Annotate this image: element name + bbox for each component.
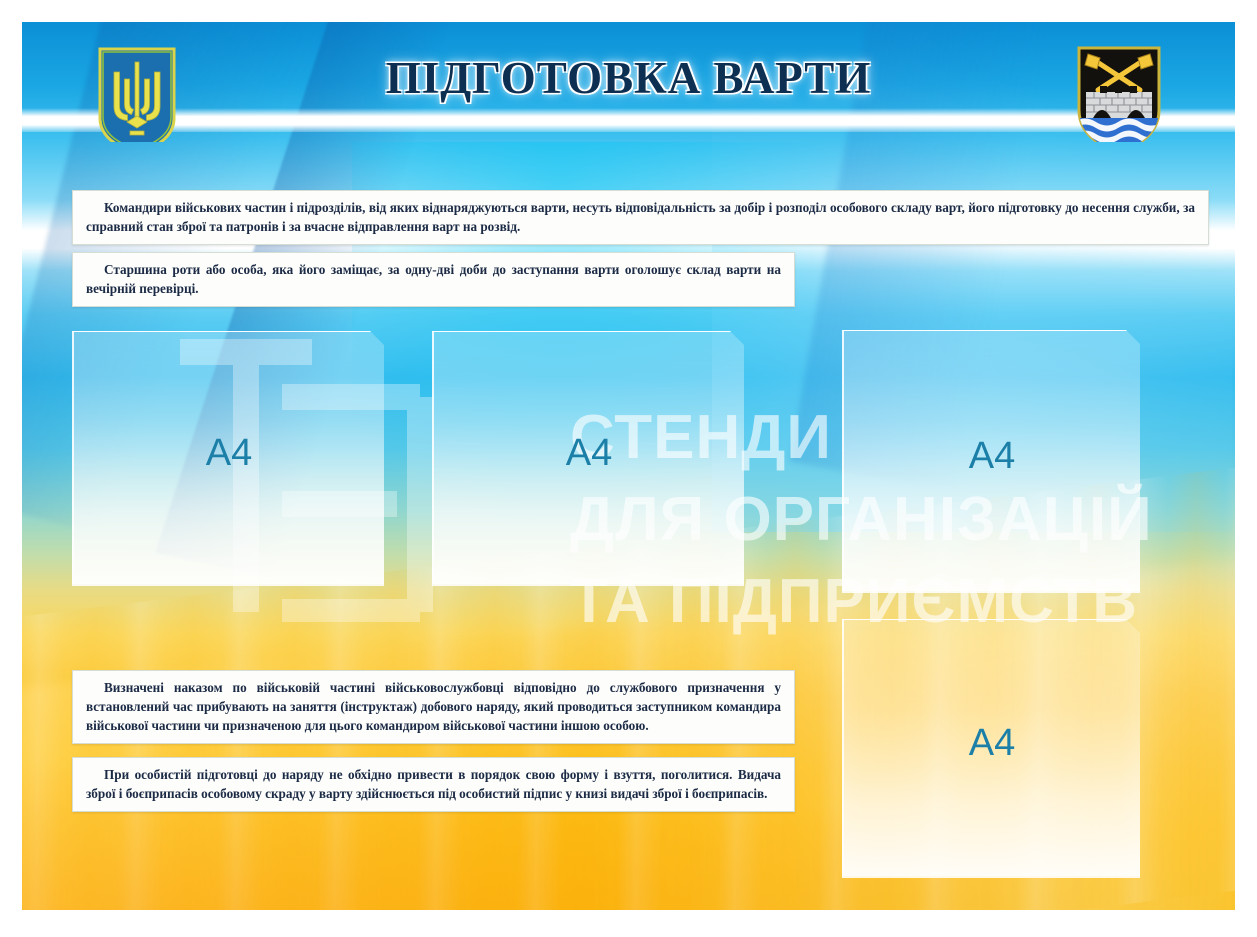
a4-pocket-1[interactable]: A4 xyxy=(72,331,384,586)
panel-paragraph: При особистій підготовці до наряду не об… xyxy=(86,765,781,803)
a4-pocket-label: A4 xyxy=(844,722,1140,765)
text-panel-commanders-responsibility: Командири військових частин і підрозділі… xyxy=(72,190,1209,245)
a4-pocket-label: A4 xyxy=(74,432,384,475)
a4-pocket-2[interactable]: A4 xyxy=(432,331,744,586)
header-banner: ПІДГОТОВКА ВАРТИ xyxy=(22,22,1235,142)
text-panel-sergeant-announcement: Старшина роти або особа, яка його заміща… xyxy=(72,252,795,307)
panel-paragraph: Старшина роти або особа, яка його заміща… xyxy=(86,260,781,298)
information-stand-board: СТЕНДИ ДЛЯ ОРГАНІЗАЦІЙ ТА ПІДПРИЄМСТВ xyxy=(22,22,1235,910)
panel-paragraph: Визначені наказом по військовій частині … xyxy=(86,678,781,735)
text-panel-briefing-order: Визначені наказом по військовій частині … xyxy=(72,670,795,744)
a4-pocket-3[interactable]: A4 xyxy=(842,330,1140,593)
panel-paragraph: Командири військових частин і підрозділі… xyxy=(86,198,1195,236)
a4-pocket-label: A4 xyxy=(844,435,1140,478)
text-panel-personal-preparation: При особистій підготовці до наряду не об… xyxy=(72,757,795,812)
header-white-stripe xyxy=(22,108,1235,132)
a4-pocket-4[interactable]: A4 xyxy=(842,619,1140,878)
page-title: ПІДГОТОВКА ВАРТИ xyxy=(22,52,1235,104)
a4-pocket-label: A4 xyxy=(434,432,744,475)
